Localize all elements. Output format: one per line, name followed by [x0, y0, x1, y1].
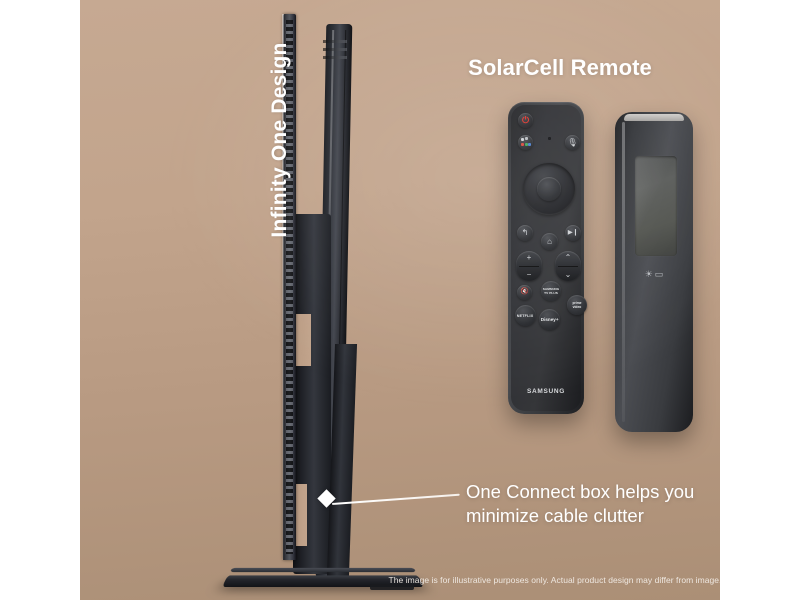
- mic-pinhole: [548, 137, 551, 140]
- channel-down-label[interactable]: ⌄: [555, 271, 581, 279]
- callout-line-2: minimize cable clutter: [466, 504, 720, 528]
- samsung-tv-plus-label: SAMSUNG TV PLUS: [542, 287, 560, 294]
- color-keys-icon: [520, 137, 531, 148]
- remote-back-view: ☀ ▭: [615, 112, 693, 432]
- tv-rear-ridge: [323, 40, 347, 43]
- remote-front-face: ⏻ 🎙: [511, 105, 581, 411]
- product-image: Infinity One Design SolarCell Remote ⏻: [0, 0, 800, 600]
- remote-front-view: ⏻ 🎙: [508, 102, 584, 414]
- prime-video-label: prime video: [568, 301, 586, 308]
- volume-up-label[interactable]: +: [516, 254, 542, 262]
- remote-top-cap: [624, 114, 684, 121]
- tv-rear-ridge: [323, 56, 347, 59]
- solar-charging-icon: ☀ ▭: [615, 270, 693, 279]
- volume-down-label[interactable]: −: [516, 271, 542, 279]
- prime-video-button[interactable]: prime video: [567, 295, 587, 315]
- sun-icon: ☀: [645, 270, 653, 279]
- select-button[interactable]: [537, 177, 561, 201]
- tv-side-profile: [135, 14, 355, 600]
- color-keys-button[interactable]: [518, 135, 533, 150]
- disclaimer-text: The image is for illustrative purposes o…: [330, 575, 720, 585]
- battery-icon: ▭: [655, 270, 664, 279]
- callout-line-1: One Connect box helps you: [466, 480, 720, 504]
- channel-up-label[interactable]: ⌃: [555, 254, 581, 262]
- netflix-button[interactable]: NETFLIX: [515, 305, 536, 326]
- mute-icon: 🔇: [520, 289, 528, 296]
- power-icon: ⏻: [522, 116, 529, 125]
- mute-button[interactable]: 🔇: [517, 285, 532, 300]
- microphone-icon: 🎙: [567, 139, 577, 147]
- netflix-label: NETFLIX: [517, 313, 534, 318]
- rocker-divider: [519, 266, 539, 267]
- home-icon: ⌂: [547, 238, 552, 246]
- power-button[interactable]: ⏻: [518, 113, 533, 128]
- channel-rocker[interactable]: ⌃ ⌄: [555, 251, 581, 281]
- directional-pad[interactable]: [523, 163, 575, 215]
- samsung-wordmark: SAMSUNG: [511, 388, 581, 395]
- microphone-button[interactable]: 🎙: [565, 135, 580, 150]
- tv-stand-base-top: [230, 568, 416, 572]
- tv-rear-ridge: [323, 48, 347, 51]
- disney-plus-button[interactable]: Disney+: [539, 309, 560, 330]
- home-button[interactable]: ⌂: [541, 233, 558, 250]
- disney-plus-label: Disney+: [541, 317, 559, 323]
- back-arrow-icon: ↰: [522, 229, 529, 237]
- solar-cell-panel: [635, 156, 677, 256]
- product-canvas: Infinity One Design SolarCell Remote ⏻: [80, 0, 720, 600]
- callout-text: One Connect box helps you minimize cable…: [466, 480, 720, 527]
- rocker-divider: [558, 266, 578, 267]
- back-button[interactable]: ↰: [517, 225, 533, 241]
- play-pause-icon: ▶❙: [568, 230, 578, 237]
- play-pause-button[interactable]: ▶❙: [565, 225, 581, 241]
- volume-rocker[interactable]: + −: [516, 251, 542, 281]
- solarcell-remote-title: SolarCell Remote: [410, 55, 710, 81]
- infinity-one-design-label: Infinity One Design: [268, 40, 292, 240]
- samsung-tv-plus-button[interactable]: SAMSUNG TV PLUS: [541, 281, 561, 301]
